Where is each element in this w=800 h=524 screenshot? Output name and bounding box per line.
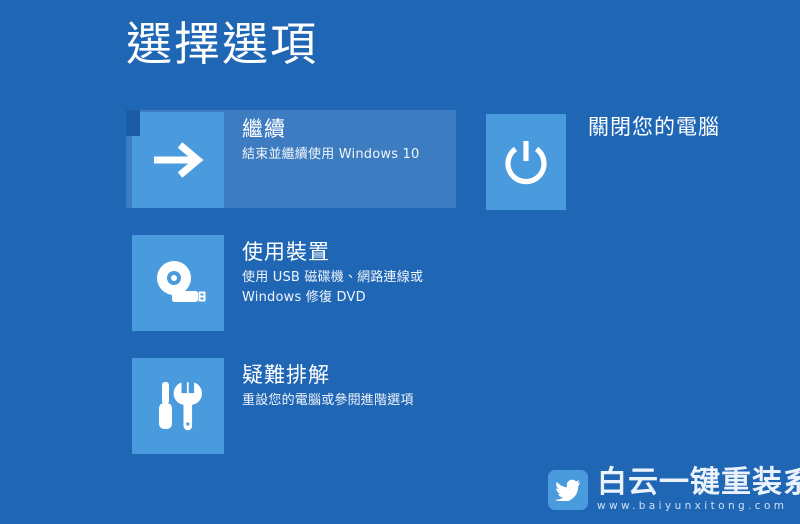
- option-use-a-device[interactable]: 使用裝置 使用 USB 磁碟機、網路連線或 Windows 修復 DVD: [126, 233, 466, 331]
- option-continue-title: 繼續: [242, 117, 286, 141]
- option-use-a-device-subtitle: 使用 USB 磁碟機、網路連線或 Windows 修復 DVD: [242, 268, 423, 307]
- option-continue-text: 繼續 結束並繼續使用 Windows 10: [224, 110, 419, 165]
- recovery-screen: 選擇選項 繼續 結束並繼續使用 Windows 10: [0, 0, 800, 524]
- disc-usb-device-icon: [150, 258, 206, 308]
- bird-icon: [555, 479, 581, 501]
- option-use-a-device-title: 使用裝置: [242, 240, 330, 264]
- option-continue-icon-tile: [132, 112, 224, 208]
- watermark: 白云一键重装系统 www.baiyunxitong.com: [548, 468, 800, 512]
- option-troubleshoot[interactable]: 疑難排解 重設您的電腦或參閱進階選項: [126, 356, 466, 454]
- option-use-a-device-icon-tile: [132, 235, 224, 331]
- page-title: 選擇選項: [126, 18, 318, 71]
- option-continue[interactable]: 繼續 結束並繼續使用 Windows 10: [126, 110, 456, 208]
- option-turn-off-pc-icon-tile: [486, 114, 566, 210]
- option-troubleshoot-text: 疑難排解 重設您的電腦或參閱進階選項: [224, 356, 414, 411]
- options-list-left: 繼續 結束並繼續使用 Windows 10: [126, 110, 466, 454]
- focus-indicator: [126, 110, 140, 136]
- watermark-url: www.baiyunxitong.com: [597, 501, 800, 512]
- option-troubleshoot-title: 疑難排解: [242, 363, 330, 387]
- power-icon: [502, 138, 550, 186]
- arrow-right-icon: [152, 139, 204, 181]
- watermark-text: 白云一键重装系统 www.baiyunxitong.com: [597, 468, 800, 512]
- option-continue-subtitle: 結束並繼續使用 Windows 10: [242, 145, 419, 165]
- option-turn-off-pc-text: 關閉您的電腦: [566, 112, 720, 140]
- watermark-name: 白云一键重装系统: [597, 468, 800, 498]
- option-use-a-device-text: 使用裝置 使用 USB 磁碟機、網路連線或 Windows 修復 DVD: [224, 233, 423, 307]
- option-turn-off-pc-title: 關閉您的電腦: [588, 115, 720, 139]
- watermark-badge: [548, 470, 588, 510]
- option-turn-off-pc[interactable]: 關閉您的電腦: [486, 112, 720, 208]
- options-list-right: 關閉您的電腦: [486, 112, 720, 208]
- screwdriver-wrench-icon: [154, 379, 202, 433]
- option-troubleshoot-subtitle: 重設您的電腦或參閱進階選項: [242, 391, 414, 411]
- option-troubleshoot-icon-tile: [132, 358, 224, 454]
